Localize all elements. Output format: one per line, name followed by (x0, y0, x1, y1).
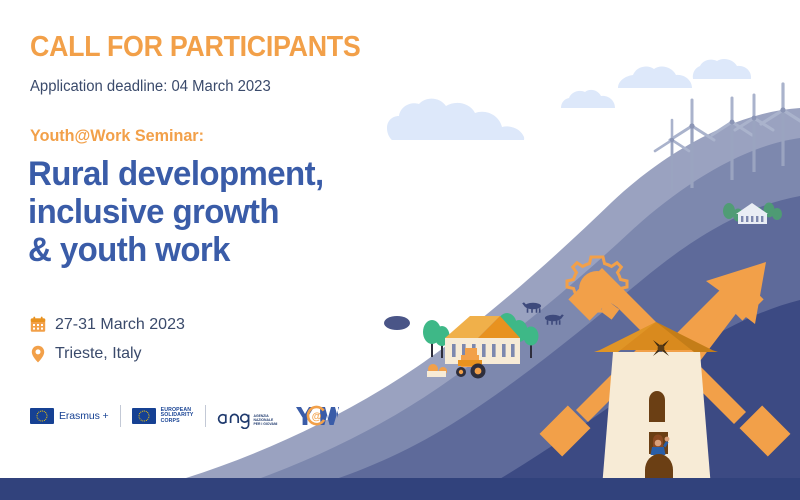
ang-wordmark (217, 407, 253, 429)
event-location-row: Trieste, Italy (30, 345, 142, 363)
event-date: 27-31 March 2023 (55, 316, 185, 334)
eu-flag-icon (30, 408, 54, 424)
yaw-wordmark: @ (295, 404, 339, 428)
erasmus-plus-wordmark: Erasmus + (59, 410, 109, 422)
map-pin-icon (30, 345, 46, 363)
application-deadline: Application deadline: 04 March 2023 (30, 78, 271, 96)
esc-wordmark: EUROPEAN SOLIDARITY CORPS (161, 408, 194, 425)
european-solidarity-corps-logo: EUROPEAN SOLIDARITY CORPS (132, 403, 194, 429)
event-date-row: 27-31 March 2023 (30, 316, 185, 334)
logo-divider-2 (205, 405, 206, 427)
eu-flag-icon (132, 408, 156, 424)
yaw-logo: @ (295, 403, 339, 429)
page-title: CALL FOR PARTICIPANTS (30, 31, 360, 64)
erasmus-plus-logo: Erasmus + (30, 403, 109, 429)
ang-logo: AGENZIA NAZIONALE PER I GIOVANI (217, 403, 278, 429)
event-location: Trieste, Italy (55, 345, 142, 363)
ang-subtitle: AGENZIA NAZIONALE PER I GIOVANI (254, 414, 278, 426)
poster: CALL FOR PARTICIPANTS Application deadli… (0, 0, 800, 500)
calendar-icon (30, 316, 46, 334)
logo-divider-1 (120, 405, 121, 427)
headline: Rural development, inclusive growth & yo… (28, 155, 324, 269)
seminar-label: Youth@Work Seminar: (30, 126, 204, 146)
logo-bar: Erasmus + EUROPEAN SOLIDARITY CORPS (30, 402, 339, 430)
svg-text:@: @ (312, 411, 322, 422)
